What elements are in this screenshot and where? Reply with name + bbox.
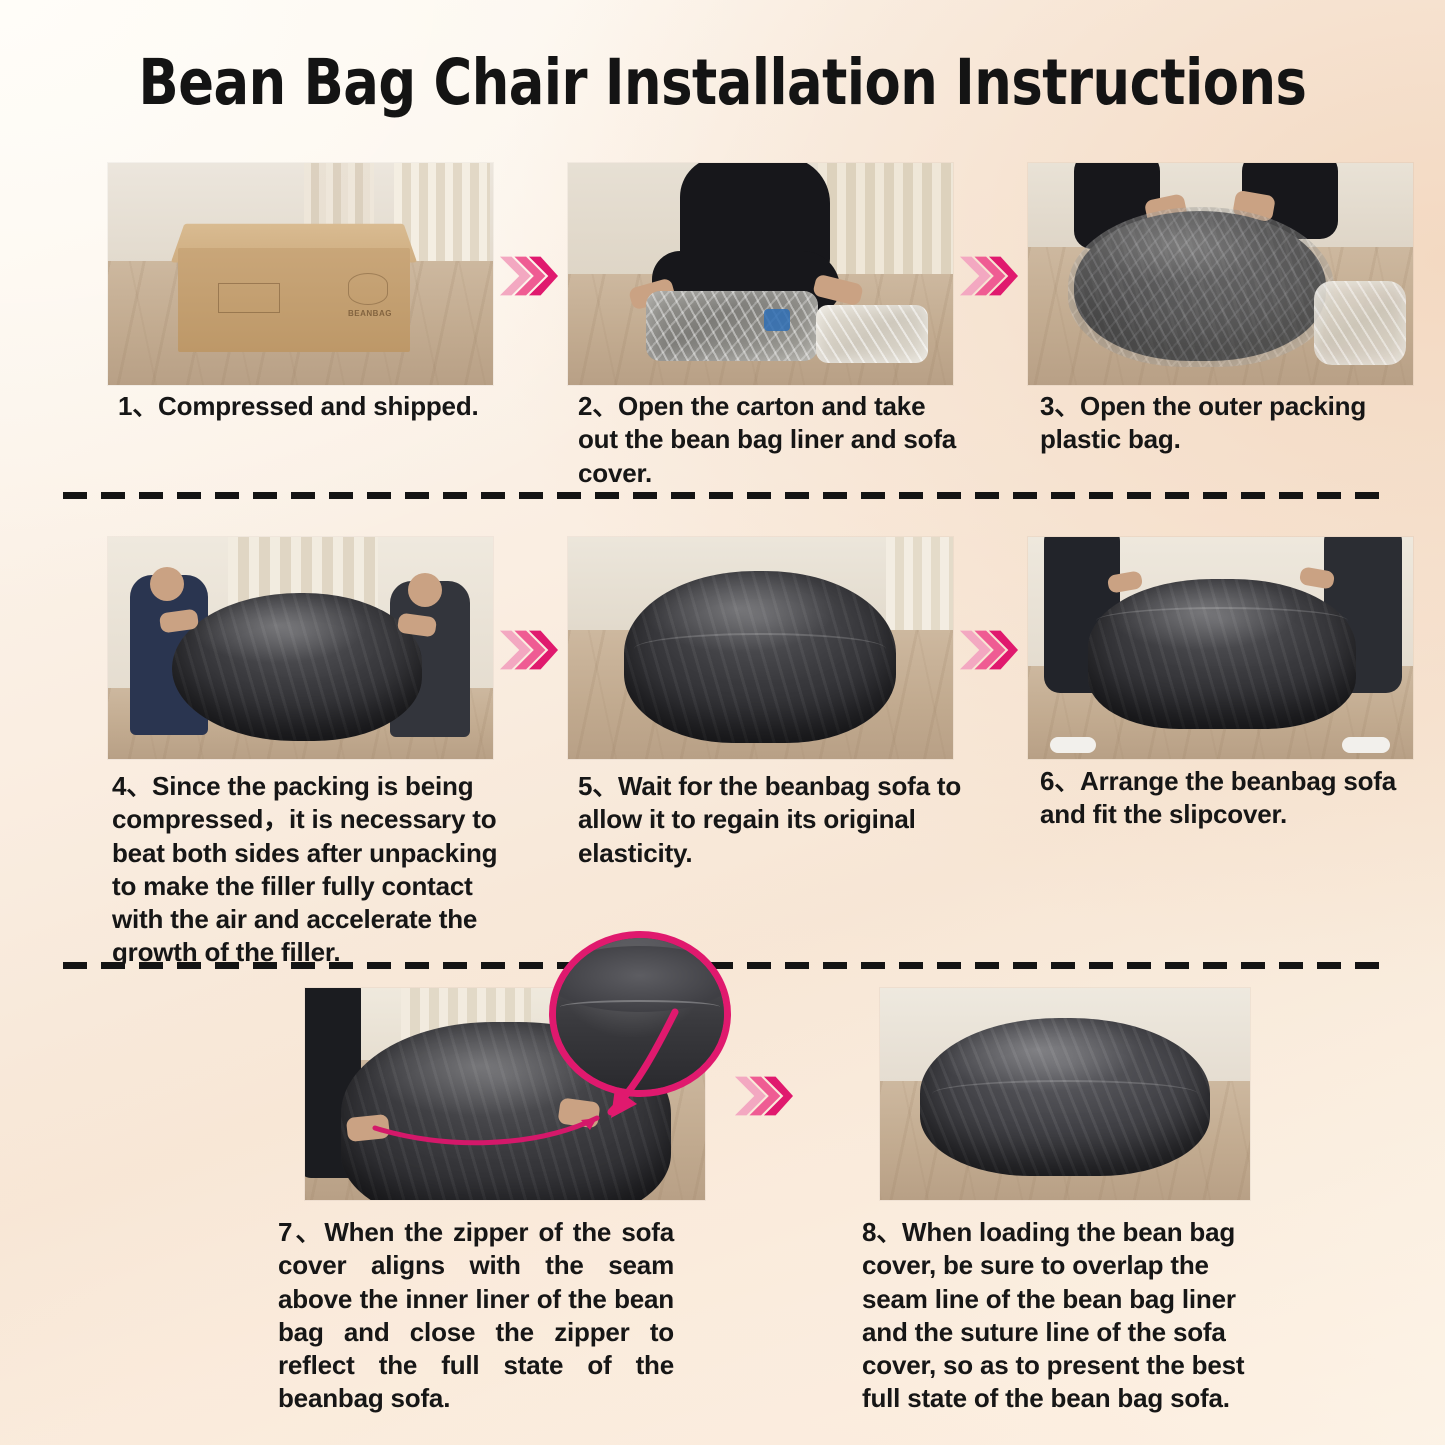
carton-logo-text: BEANBAG: [348, 309, 392, 318]
step-photo-5: [568, 537, 953, 759]
liner-with-slipcover: [1088, 579, 1356, 729]
infographic-page: Bean Bag Chair Installation Instructions…: [0, 0, 1445, 1445]
step-photo-6: [1028, 537, 1413, 759]
chevron-right-icon: [498, 622, 558, 678]
step-caption-1: 1、Compressed and shipped.: [118, 390, 548, 423]
carton-label: [218, 283, 280, 313]
arrow-step-1-to-2: [498, 248, 558, 304]
arrow-step-7-to-8: [733, 1068, 793, 1124]
arrow-step-4-to-5: [498, 622, 558, 678]
step-caption-6: 6、Arrange the beanbag sofa and fit the s…: [1040, 765, 1412, 832]
carton-logo-icon: [348, 273, 388, 305]
cover-bag: [816, 305, 928, 363]
bean-bag-liner: [172, 593, 422, 741]
step-caption-5: 5、Wait for the beanbag sofa to allow it …: [578, 770, 968, 870]
step-photo-8: [880, 988, 1250, 1200]
outer-plastic-bag: [1068, 207, 1334, 367]
step-photo-2: [568, 163, 953, 385]
step-photo-3: [1028, 163, 1413, 385]
step-caption-7: 7、When the zipper of the sofa cover alig…: [278, 1216, 674, 1416]
chevron-right-icon: [498, 248, 558, 304]
divider-row-2: [63, 962, 1389, 969]
compressed-liner-bag: [646, 291, 818, 361]
step-caption-8: 8、When loading the bean bag cover, be su…: [862, 1216, 1252, 1416]
liner-seam: [634, 633, 886, 665]
page-title: Bean Bag Chair Installation Instructions: [51, 46, 1395, 119]
chevron-right-icon: [733, 1068, 793, 1124]
seam-alignment-arrow: [549, 990, 749, 1130]
step-photo-1: BEANBAG: [108, 163, 493, 385]
chevron-right-icon: [958, 622, 1018, 678]
step-caption-2: 2、Open the carton and take out the bean …: [578, 390, 970, 490]
step-photo-4: [108, 537, 493, 759]
arrow-step-5-to-6: [958, 622, 1018, 678]
step-caption-3: 3、Open the outer packing plastic bag.: [1040, 390, 1412, 457]
step-caption-4: 4、Since the packing is being compressed，…: [112, 770, 512, 970]
divider-row-1: [63, 492, 1389, 499]
arrow-step-2-to-3: [958, 248, 1018, 304]
chevron-right-icon: [958, 248, 1018, 304]
